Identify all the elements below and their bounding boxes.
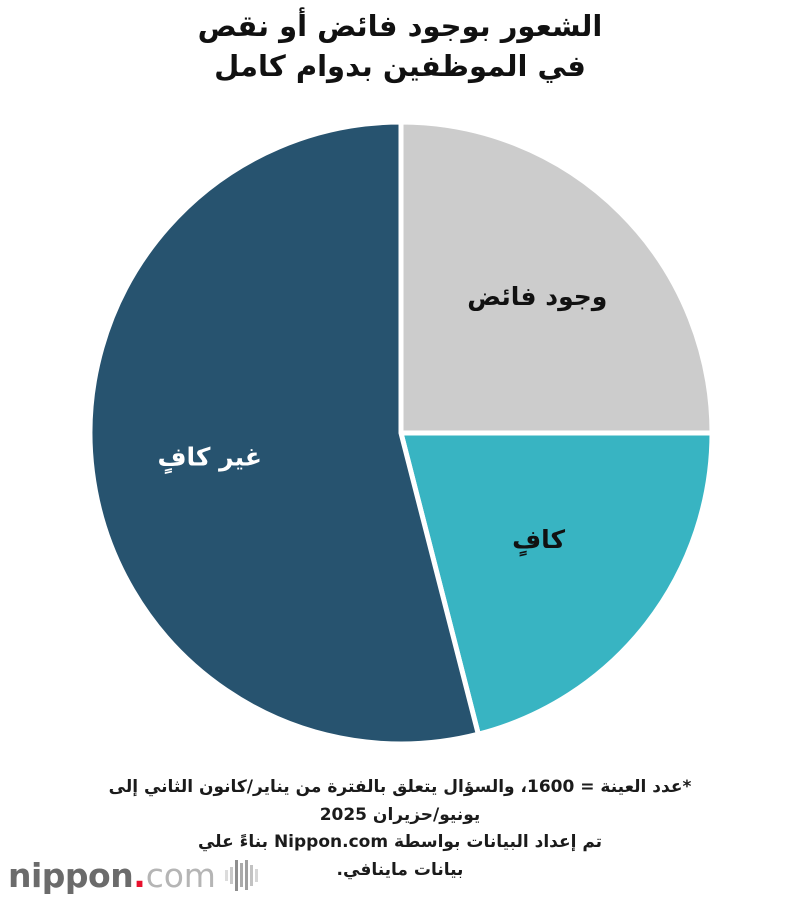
page-title: الشعور بوجود فائض أو نقص في الموظفين بدو… [0,6,800,86]
sound-wave-bars-icon [225,859,258,891]
logo-tld: com [146,856,216,895]
logo-dot: . [133,856,146,895]
pie-slice-label: غير كافٍ [157,443,262,474]
pie-chart-svg: وجود فائضكافٍغير كافٍ [90,122,712,744]
nippon-logo[interactable]: nippon.com [8,854,258,896]
pie-slice-label: كافٍ [512,525,565,556]
logo-name: nippon [8,856,133,895]
footnote-line-3: تم إعداد البيانات بواسطة Nippon.com بناء… [48,829,752,857]
footnote-line-2: يونيو/حزيران 2025 [48,802,752,830]
page-title-line-2: في الموظفين بدوام كامل [0,46,800,86]
pie-slice-label: وجود فائض [467,282,607,312]
pie-slice[interactable] [401,122,712,433]
pie-chart: وجود فائضكافٍغير كافٍ [90,122,712,744]
page-title-line-1: الشعور بوجود فائض أو نقص [0,6,800,46]
footnote-line-1: *عدد العينة = 1600، والسؤال يتعلق بالفتر… [48,774,752,802]
logo-wordmark: nippon.com [8,859,216,892]
